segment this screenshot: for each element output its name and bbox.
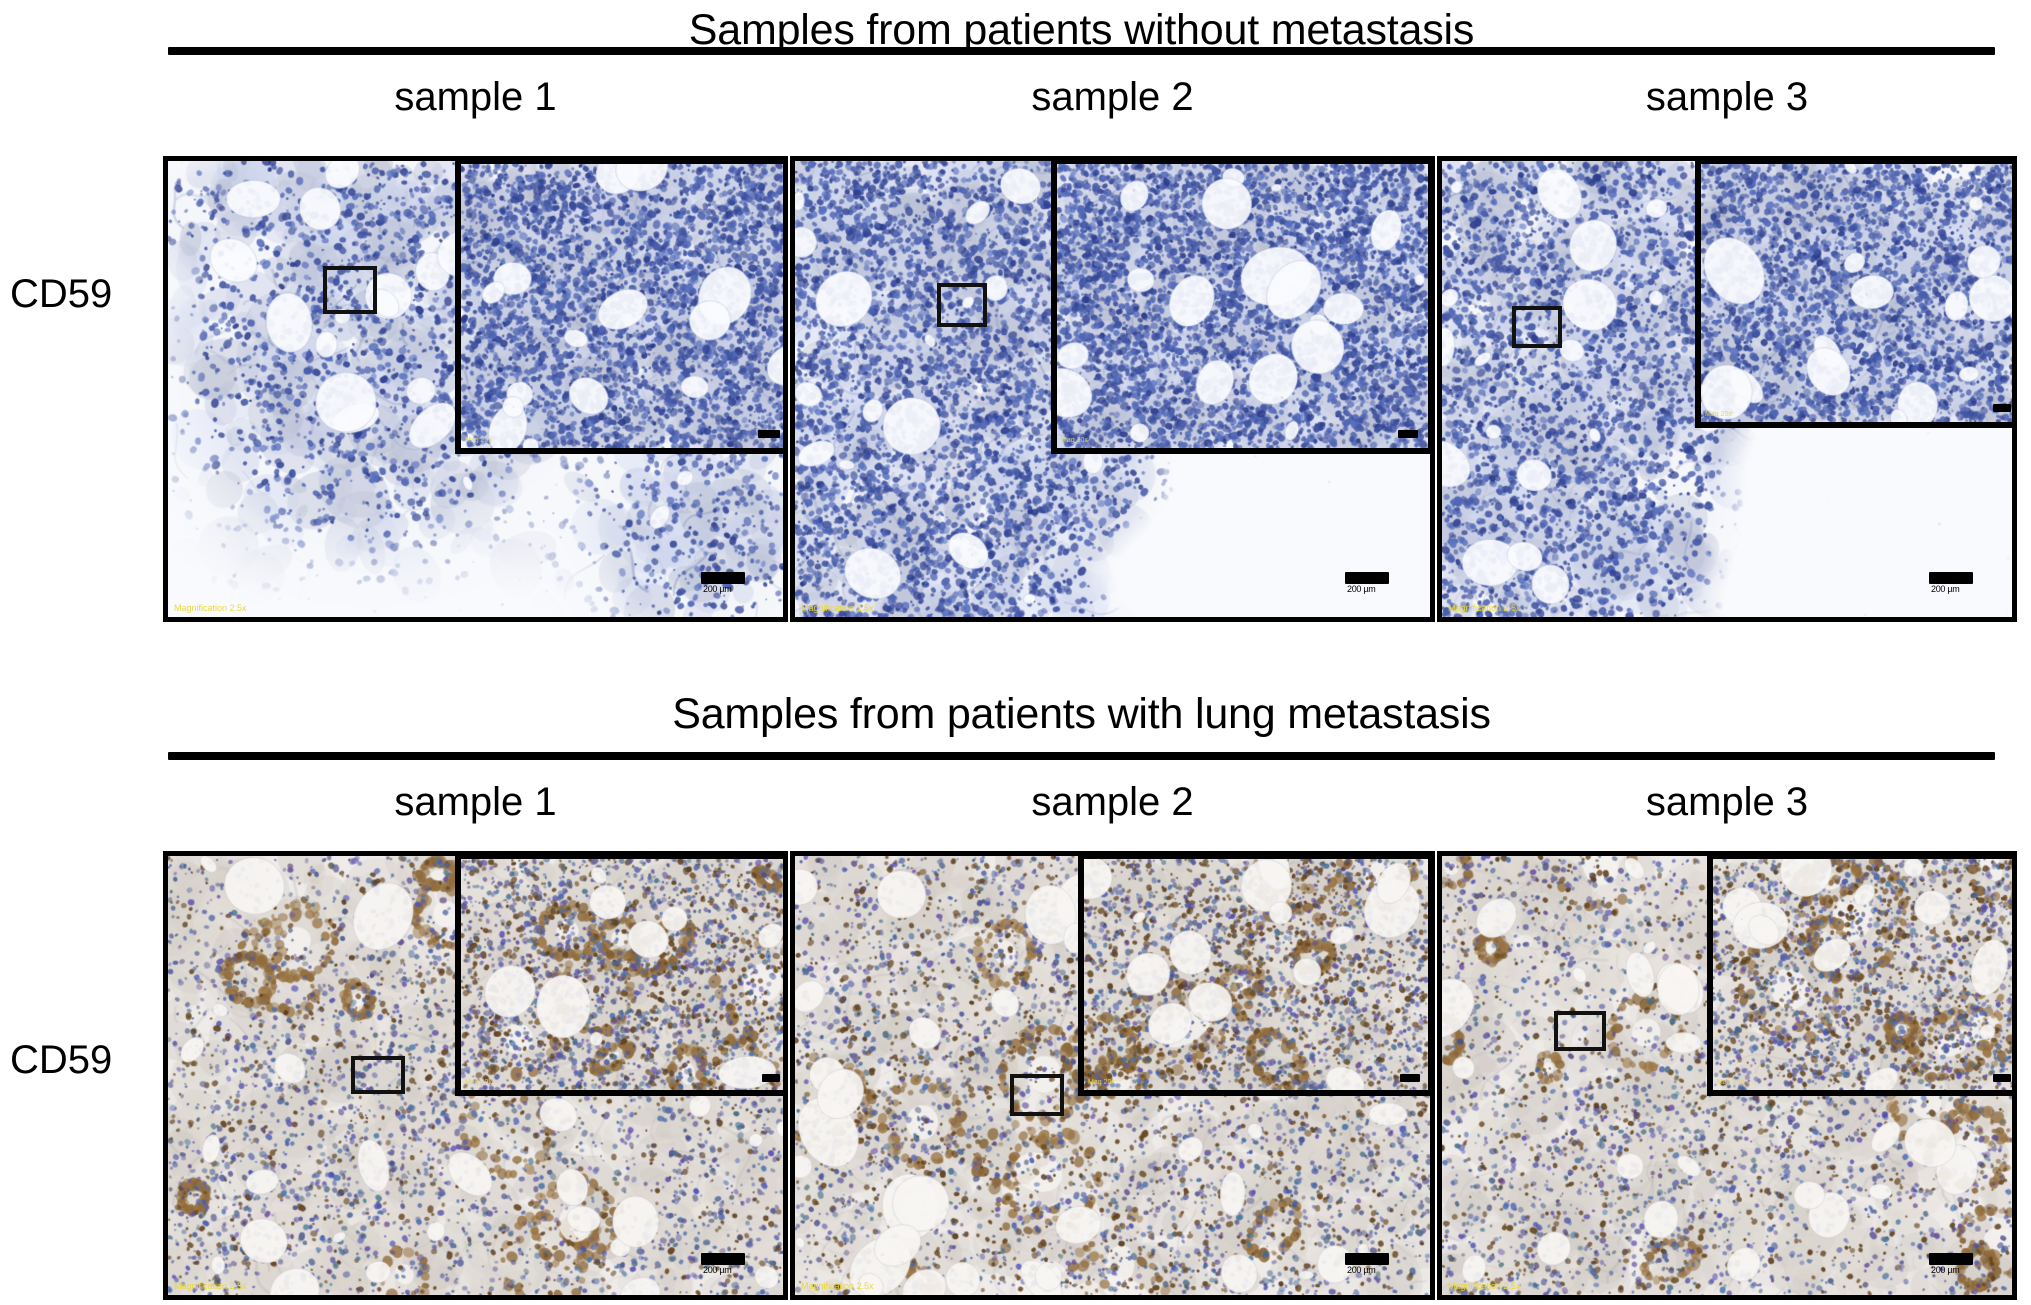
- micrograph-panel-bottom-3[interactable]: Mag 20x 200 µm Magnification 2.5x: [1437, 851, 2017, 1300]
- inset-high-mag-bottom-1[interactable]: Mag 20x: [455, 853, 788, 1096]
- scalebar-inset-bottom-2: [1400, 1074, 1420, 1082]
- watermark-inset-top-2: Mag 20x: [1061, 437, 1088, 445]
- scalebar-label-bottom-1: 200 µm: [703, 1266, 731, 1275]
- scalebar-main-bottom-2: [1345, 1253, 1389, 1265]
- inset-high-mag-bottom-3[interactable]: Mag 20x: [1707, 853, 2017, 1096]
- scalebar-main-top-1: [701, 572, 745, 584]
- scalebar-inset-top-1: [758, 430, 780, 438]
- scalebar-label-top-3: 200 µm: [1931, 585, 1959, 594]
- caption-top-sample-2: sample 2: [790, 75, 1435, 120]
- scalebar-main-bottom-3: [1929, 1253, 1973, 1265]
- scalebar-label-bottom-3: 200 µm: [1931, 1266, 1959, 1275]
- section-divider-top: [168, 47, 1995, 55]
- watermark-main-top-1: Magnification 2.5x: [174, 603, 247, 613]
- inset-high-mag-bottom-2[interactable]: Mag 20x: [1078, 853, 1434, 1096]
- inset-high-mag-top-1[interactable]: Mag 20x: [455, 158, 788, 454]
- scalebar-inset-top-3: [1993, 404, 2011, 412]
- watermark-main-top-3: Magnification 2.5x: [1448, 603, 1521, 613]
- scalebar-main-top-2: [1345, 572, 1389, 584]
- row-label-cd59-top: CD59: [10, 272, 112, 317]
- watermark-inset-bottom-3: Mag 20x: [1717, 1079, 1744, 1087]
- inset-high-mag-top-3[interactable]: Mag 20x: [1695, 158, 2017, 428]
- watermark-inset-bottom-2: Mag 20x: [1088, 1079, 1115, 1087]
- scalebar-label-bottom-2: 200 µm: [1347, 1266, 1375, 1275]
- micrograph-panel-bottom-2[interactable]: Mag 20x 200 µm Magnification 2.5x: [790, 851, 1435, 1300]
- caption-bottom-sample-3: sample 3: [1437, 780, 2017, 825]
- watermark-inset-bottom-1: Mag 20x: [465, 1079, 492, 1087]
- section-divider-bottom: [168, 752, 1995, 760]
- scalebar-main-top-3: [1929, 572, 1973, 584]
- watermark-inset-top-1: Mag 20x: [465, 437, 492, 445]
- micrograph-panel-bottom-1[interactable]: Mag 20x 200 µm Magnification 2.5x: [163, 851, 788, 1300]
- scalebar-inset-top-2: [1398, 430, 1418, 438]
- watermark-inset-top-3: Mag 20x: [1705, 411, 1732, 419]
- inset-high-mag-top-2[interactable]: Mag 20x: [1051, 158, 1434, 454]
- caption-bottom-sample-2: sample 2: [790, 780, 1435, 825]
- micrograph-panel-top-1[interactable]: Mag 20x 200 µm Magnification 2.5x: [163, 156, 788, 622]
- micrograph-panel-top-3[interactable]: Mag 20x 200 µm Magnification 2.5x: [1437, 156, 2017, 622]
- watermark-main-top-2: Magnification 2.5x: [801, 603, 874, 613]
- watermark-main-bottom-2: Magnification 2.5x: [801, 1281, 874, 1291]
- section-title-lung-metastasis: Samples from patients with lung metastas…: [168, 690, 1995, 739]
- caption-top-sample-3: sample 3: [1437, 75, 2017, 120]
- row-label-cd59-bottom: CD59: [10, 1038, 112, 1083]
- micrograph-panel-top-2[interactable]: Mag 20x 200 µm Magnification 2.5x: [790, 156, 1435, 622]
- scalebar-inset-bottom-1: [762, 1074, 780, 1082]
- scalebar-label-top-1: 200 µm: [703, 585, 731, 594]
- scalebar-inset-bottom-3: [1993, 1074, 2011, 1082]
- figure-root: Samples from patients without metastasis…: [0, 0, 2031, 1305]
- watermark-main-bottom-1: Magnification 2.5x: [174, 1281, 247, 1291]
- caption-top-sample-1: sample 1: [163, 75, 788, 120]
- watermark-main-bottom-3: Magnification 2.5x: [1448, 1281, 1521, 1291]
- scalebar-label-top-2: 200 µm: [1347, 585, 1375, 594]
- caption-bottom-sample-1: sample 1: [163, 780, 788, 825]
- scalebar-main-bottom-1: [701, 1253, 745, 1265]
